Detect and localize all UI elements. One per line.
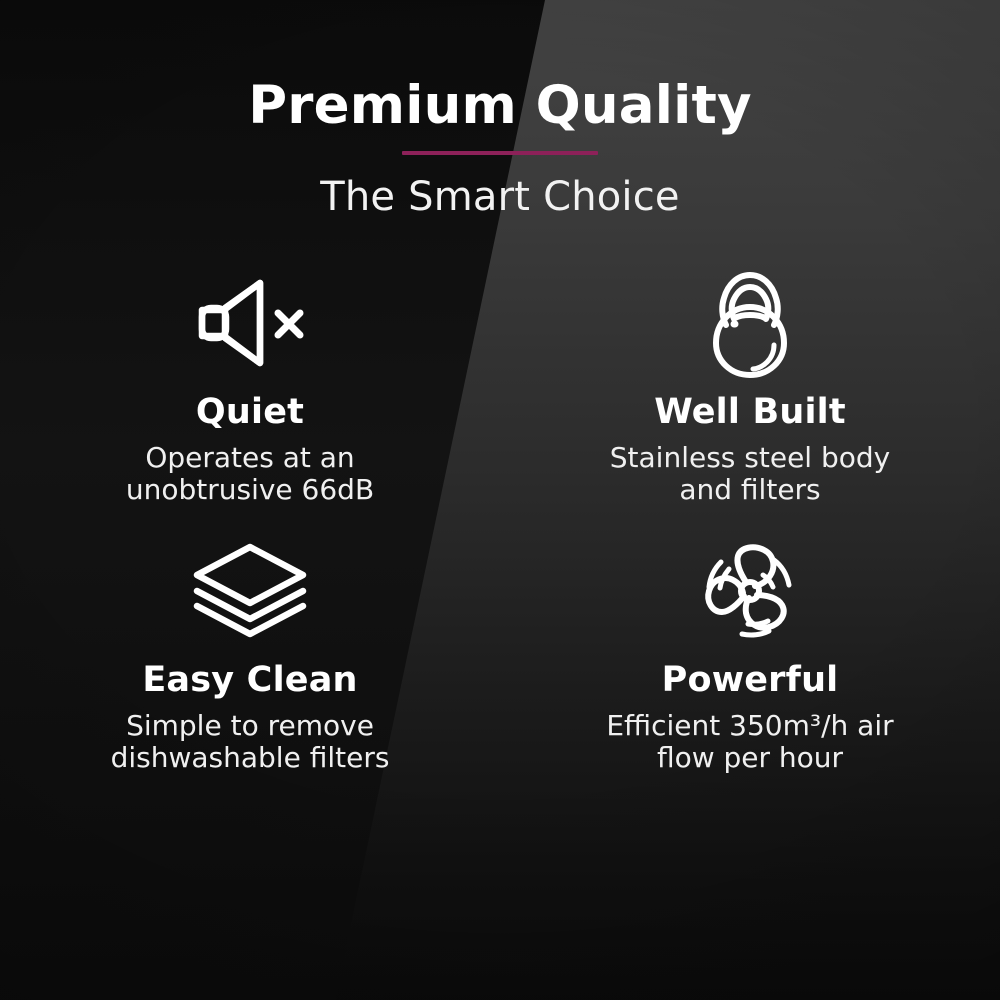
feature-description: Operates at an unobtrusive 66dB xyxy=(85,442,415,508)
feature-title: Quiet xyxy=(196,393,304,432)
kettlebell-icon xyxy=(691,267,809,379)
feature-card-well-built: Well Built Stainless steel body and filt… xyxy=(500,249,1000,507)
feature-title: Easy Clean xyxy=(142,661,357,700)
fan-icon xyxy=(691,535,809,647)
feature-description: Simple to remove dishwashable filters xyxy=(85,710,415,776)
feature-title: Well Built xyxy=(654,393,846,432)
page-title: Premium Quality xyxy=(0,78,1000,134)
promo-canvas: Premium Quality The Smart Choice Quiet O… xyxy=(0,0,1000,1000)
header: Premium Quality The Smart Choice xyxy=(0,0,1000,219)
accent-divider xyxy=(402,151,598,155)
content-layer: Premium Quality The Smart Choice Quiet O… xyxy=(0,0,1000,1000)
speaker-mute-icon xyxy=(191,267,309,379)
feature-description: Efficient 350m³/h air flow per hour xyxy=(585,710,915,776)
layers-icon xyxy=(191,535,309,647)
feature-title: Powerful xyxy=(662,661,839,700)
feature-card-quiet: Quiet Operates at an unobtrusive 66dB xyxy=(0,249,500,507)
feature-grid: Quiet Operates at an unobtrusive 66dB We… xyxy=(0,249,1000,775)
feature-card-powerful: Powerful Efficient 350m³/h air flow per … xyxy=(500,517,1000,775)
feature-card-easy-clean: Easy Clean Simple to remove dishwashable… xyxy=(0,517,500,775)
page-subtitle: The Smart Choice xyxy=(0,175,1000,219)
feature-description: Stainless steel body and filters xyxy=(585,442,915,508)
